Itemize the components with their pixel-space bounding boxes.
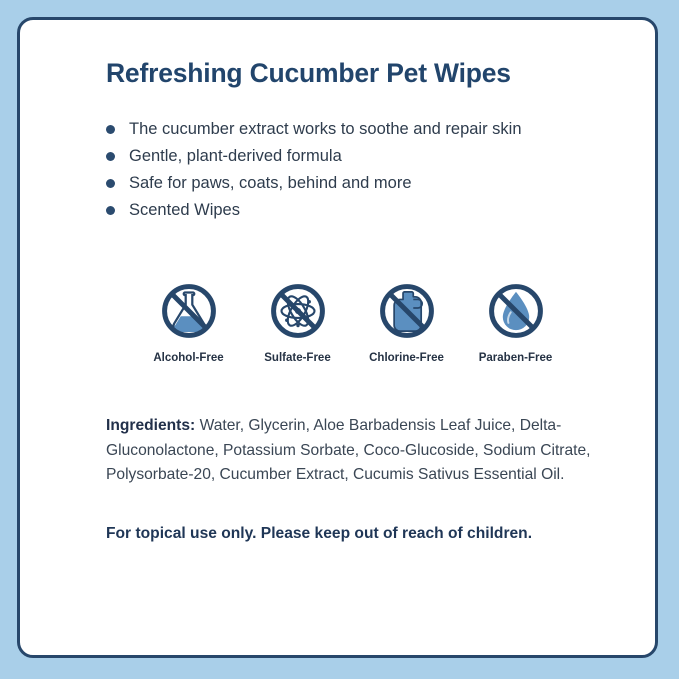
safety-notice: For topical use only. Please keep out of… bbox=[106, 525, 611, 543]
no-droplet-icon bbox=[483, 278, 549, 344]
badge-label: Paraben-Free bbox=[479, 352, 553, 364]
badge-label: Sulfate-Free bbox=[264, 352, 330, 364]
ingredients-label: Ingredients: bbox=[106, 417, 195, 434]
badge-label: Alcohol-Free bbox=[153, 352, 223, 364]
ingredients-paragraph: Ingredients: Water, Glycerin, Aloe Barba… bbox=[106, 414, 606, 486]
bullet-icon bbox=[106, 206, 115, 215]
product-info-page: Refreshing Cucumber Pet Wipes The cucumb… bbox=[0, 0, 679, 679]
no-atom-icon bbox=[265, 278, 331, 344]
bullet-icon bbox=[106, 125, 115, 134]
badge-alcohol-free: Alcohol-Free bbox=[134, 278, 243, 364]
bullet-icon bbox=[106, 152, 115, 161]
no-jug-icon bbox=[374, 278, 440, 344]
feature-text: The cucumber extract works to soothe and… bbox=[129, 118, 522, 142]
bullet-icon bbox=[106, 179, 115, 188]
feature-list: The cucumber extract works to soothe and… bbox=[106, 118, 611, 223]
list-item: Gentle, plant-derived formula bbox=[106, 145, 611, 169]
badge-sulfate-free: Sulfate-Free bbox=[243, 278, 352, 364]
free-from-badges: Alcohol-Free bbox=[106, 278, 611, 364]
feature-text: Gentle, plant-derived formula bbox=[129, 145, 342, 169]
list-item: The cucumber extract works to soothe and… bbox=[106, 118, 611, 142]
badge-label: Chlorine-Free bbox=[369, 352, 444, 364]
badge-paraben-free: Paraben-Free bbox=[461, 278, 570, 364]
feature-text: Scented Wipes bbox=[129, 199, 240, 223]
list-item: Safe for paws, coats, behind and more bbox=[106, 172, 611, 196]
badge-chlorine-free: Chlorine-Free bbox=[352, 278, 461, 364]
no-flask-icon bbox=[156, 278, 222, 344]
list-item: Scented Wipes bbox=[106, 199, 611, 223]
page-title: Refreshing Cucumber Pet Wipes bbox=[106, 58, 611, 90]
card-content: Refreshing Cucumber Pet Wipes The cucumb… bbox=[20, 20, 655, 655]
product-card: Refreshing Cucumber Pet Wipes The cucumb… bbox=[17, 17, 658, 658]
feature-text: Safe for paws, coats, behind and more bbox=[129, 172, 412, 196]
